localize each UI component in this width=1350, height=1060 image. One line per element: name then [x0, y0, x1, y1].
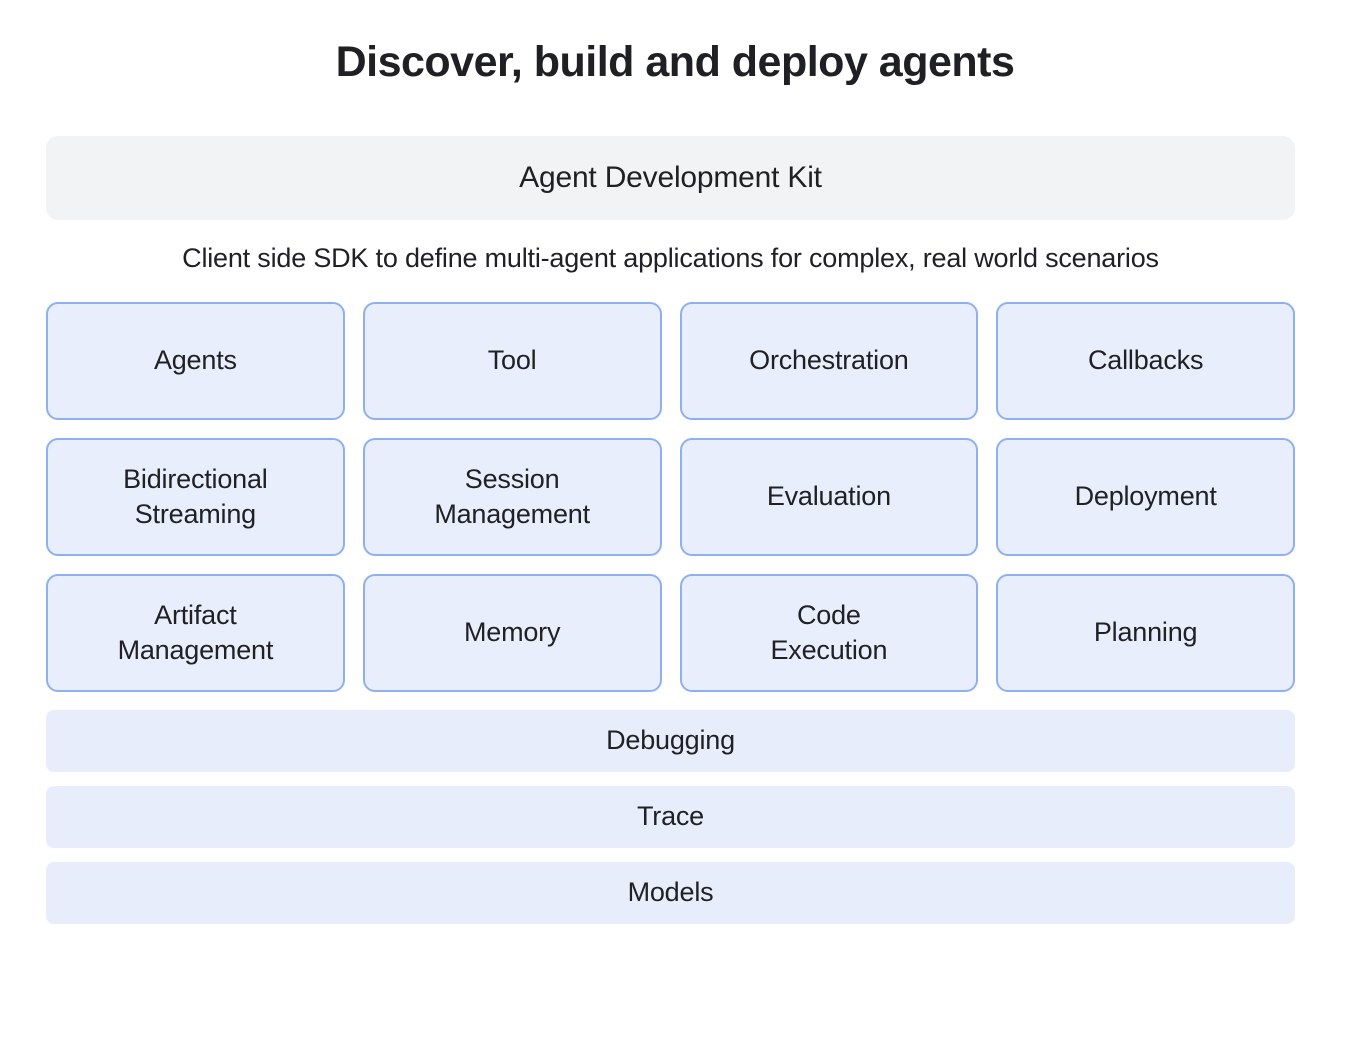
capability-card-memory[interactable]: Memory [363, 574, 662, 692]
capability-label: Agents [154, 343, 237, 378]
capability-label: Callbacks [1088, 343, 1203, 378]
platform-bar-label: Models [628, 877, 714, 908]
platform-bar-models[interactable]: Models [46, 862, 1295, 924]
capability-label: Evaluation [767, 479, 891, 514]
page-title: Discover, build and deploy agents [0, 0, 1350, 87]
capability-label: Tool [488, 343, 537, 378]
capability-card-agents[interactable]: Agents [46, 302, 345, 420]
capability-card-orchestration[interactable]: Orchestration [680, 302, 979, 420]
capability-card-planning[interactable]: Planning [996, 574, 1295, 692]
capability-card-session-management[interactable]: Session Management [363, 438, 662, 556]
capability-label: Planning [1094, 615, 1198, 650]
platform-bar-debugging[interactable]: Debugging [46, 710, 1295, 772]
capability-label: Orchestration [749, 343, 908, 378]
capability-grid: Agents Tool Orchestration Callbacks Bidi… [46, 302, 1295, 692]
capability-card-artifact-management[interactable]: Artifact Management [46, 574, 345, 692]
capability-label: Deployment [1075, 479, 1217, 514]
capability-label: Memory [464, 615, 560, 650]
capability-card-bidirectional-streaming[interactable]: Bidirectional Streaming [46, 438, 345, 556]
platform-bar-label: Trace [637, 801, 704, 832]
capability-card-code-execution[interactable]: Code Execution [680, 574, 979, 692]
capability-card-evaluation[interactable]: Evaluation [680, 438, 979, 556]
subtitle-text: Client side SDK to define multi-agent ap… [46, 220, 1295, 276]
capability-label: Artifact Management [118, 598, 274, 667]
capability-label: Bidirectional Streaming [123, 462, 267, 531]
platform-bars: Debugging Trace Models [46, 710, 1295, 924]
diagram-stack: Agent Development Kit Client side SDK to… [46, 136, 1295, 924]
platform-bar-label: Debugging [606, 725, 735, 756]
adk-architecture-diagram: Discover, build and deploy agents Agent … [0, 0, 1350, 1060]
agent-development-kit-label: Agent Development Kit [519, 161, 822, 195]
capability-label: Session Management [434, 462, 590, 531]
capability-card-callbacks[interactable]: Callbacks [996, 302, 1295, 420]
capability-card-deployment[interactable]: Deployment [996, 438, 1295, 556]
capability-card-tool[interactable]: Tool [363, 302, 662, 420]
capability-label: Code Execution [770, 598, 887, 667]
platform-bar-trace[interactable]: Trace [46, 786, 1295, 848]
agent-development-kit-band: Agent Development Kit [46, 136, 1295, 220]
